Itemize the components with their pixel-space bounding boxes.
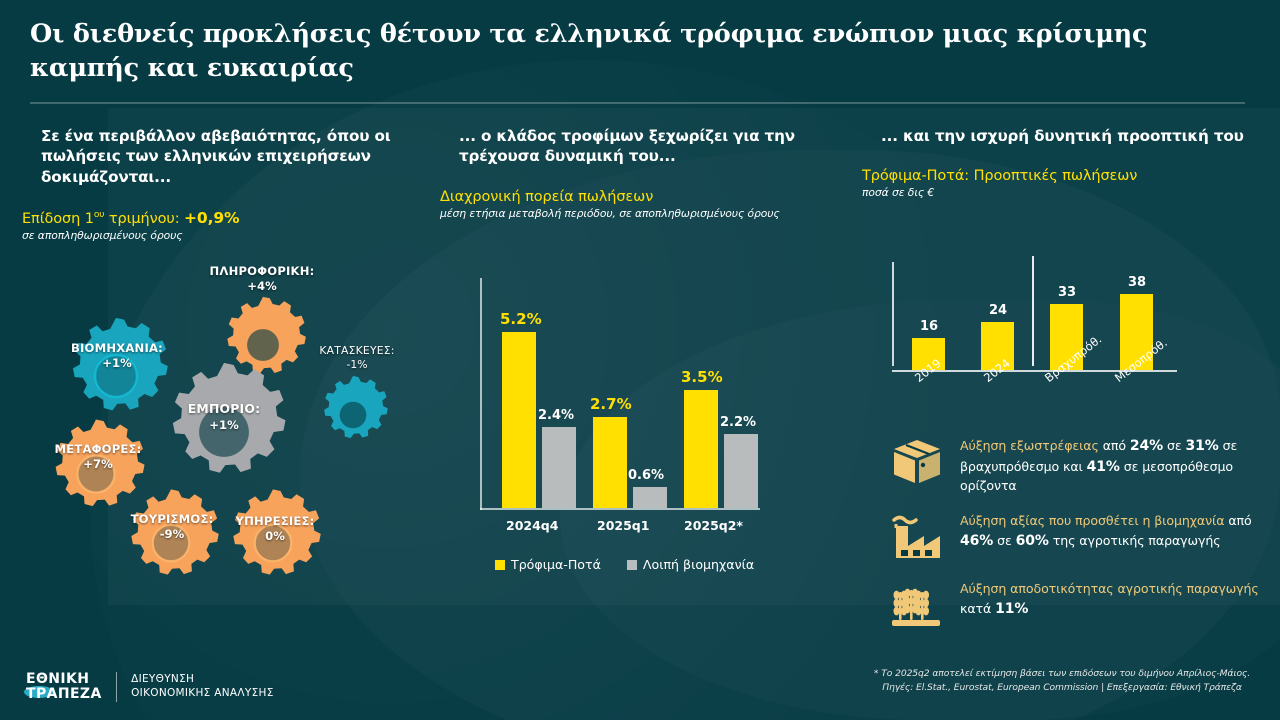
bar-other-2025q2 — [724, 434, 758, 508]
bar-food-2025q2 — [684, 390, 718, 508]
bullet-part: 31% — [1186, 438, 1219, 454]
logo-line-2: ΤΡΑΠΕΖΑ — [26, 687, 102, 702]
midchart-y-axis — [480, 278, 482, 510]
bullet-part: από — [1103, 438, 1130, 453]
column-sales-trend: ... ο κλάδος τροφίμων ξεχωρίζει για την … — [440, 126, 845, 220]
footnote-line-2: Πηγές: El.Stat., Eurostat, European Comm… — [862, 681, 1262, 695]
quarter-note: σε αποπληθωρισμένους όρους — [22, 229, 422, 242]
department-line-1: ΔΙΕΥΘΥΝΣΗ — [131, 673, 274, 687]
department-line-2: ΟΙΚΟΝΟΜΙΚΗΣ ΑΝΑΛΥΣΗΣ — [131, 687, 274, 701]
kicker-3-text: ... και την ισχυρή δυνητική προοπτική το… — [881, 126, 1244, 146]
bar-label-mid-term: 38 — [1128, 275, 1146, 290]
midchart-x-axis — [480, 508, 760, 510]
bullet-part: από — [1228, 513, 1251, 528]
bar-label-other-2024q4: 2.4% — [538, 408, 574, 423]
bullet-part: σε — [993, 533, 1015, 548]
category-label-2025q1: 2025q1 — [597, 518, 649, 533]
bullet-value-added-text: Αύξηση αξίας που προσθέτει η βιομηχανία … — [960, 512, 1280, 551]
kicker-1-text: Σε ένα περιβάλλον αβεβαιότητας, όπου οι … — [41, 126, 422, 187]
logo-divider — [116, 672, 117, 702]
bar-label-short-term: 33 — [1058, 285, 1076, 300]
kicker-2: ... ο κλάδος τροφίμων ξεχωρίζει για την … — [440, 126, 845, 167]
bullet-part: Αύξηση αξίας που προσθέτει η βιομηχανία — [960, 513, 1228, 528]
kicker-2-text: ... ο κλάδος τροφίμων ξεχωρίζει για την … — [459, 126, 845, 167]
gear-icon-tourismos — [112, 484, 230, 602]
bar-label-food-2024q4: 5.2% — [500, 310, 542, 328]
logo-line-1: ΕΘΝΙΚΗ — [26, 672, 102, 687]
subhead-2: Διαχρονική πορεία πωλήσεων μέση ετήσια μ… — [440, 189, 845, 220]
header-divider — [30, 102, 1245, 104]
bullet-part: 46% — [960, 533, 993, 549]
category-label-2025q2: 2025q2* — [684, 518, 743, 533]
page-title: Οι διεθνείς προκλήσεις θέτουν τα ελληνικ… — [30, 18, 1210, 85]
quarter-prefix: Επίδοση 1 — [22, 211, 94, 227]
quarter-superscript: ου — [94, 210, 105, 220]
gear-icon-ypiresies — [214, 484, 332, 602]
bar-label-2019: 16 — [920, 319, 938, 334]
factory-icon — [888, 512, 946, 564]
sector-gears-diagram: ΠΛΗΡΟΦΟΡΙΚΗ: +4% ΒΙΟΜΗΧΑΝΙΑ: +1% ΚΑΤΑΣΚΕ… — [22, 262, 432, 602]
legend-item-food: Τρόφιμα-Ποτά — [495, 557, 601, 572]
legend-label-other: Λοιπή βιομηχανία — [643, 557, 754, 572]
bullet-part: κατά — [960, 601, 995, 616]
bullet-part: της αγροτικής παραγωγής — [1049, 533, 1221, 548]
box-icon — [888, 436, 946, 488]
rightchart-title: Τρόφιμα-Ποτά: Προοπτικές πωλήσεων — [862, 168, 1262, 184]
legend-item-other: Λοιπή βιομηχανία — [627, 557, 754, 572]
bar-label-other-2025q2: 2.2% — [720, 415, 756, 430]
subhead-1: Επίδοση 1ου τριμήνου: +0,9% σε αποπληθωρ… — [22, 209, 422, 242]
bullet-part: 24% — [1130, 438, 1163, 454]
bullet-export-text: Αύξηση εξωστρέφειας από 24% σε 31% σε βρ… — [960, 436, 1280, 496]
midchart-legend: Τρόφιμα-Ποτά Λοιπή βιομηχανία — [495, 557, 754, 572]
legend-swatch-icon-food — [495, 560, 505, 570]
rightchart-note: ποσά σε δις € — [862, 186, 1262, 199]
bullet-part: Αύξηση εξωστρέφειας — [960, 438, 1103, 453]
bullet-export: Αύξηση εξωστρέφειας από 24% σε 31% σε βρ… — [888, 436, 1280, 496]
gear-ypiresies — [214, 484, 332, 606]
bullet-part: Αύξηση αποδοτικότητας αγροτικής παραγωγή… — [960, 581, 1259, 596]
legend-label-food: Τρόφιμα-Ποτά — [511, 557, 601, 572]
gear-tourismos — [112, 484, 230, 606]
sales-outlook-chart: 16 2019 24 2024 33 Βραχυπρόθ. 38 Μεσοπρό… — [892, 262, 1182, 372]
bar-other-2025q1 — [633, 487, 667, 508]
footnote-line-1: * Το 2025q2 αποτελεί εκτίμηση βάσει των … — [862, 667, 1262, 681]
page-header: Οι διεθνείς προκλήσεις θέτουν τα ελληνικ… — [30, 18, 1210, 85]
bar-label-food-2025q2: 3.5% — [681, 368, 723, 386]
bullet-part: 60% — [1016, 533, 1049, 549]
gear-icon-kataskeves — [310, 372, 396, 458]
logo-mark: ΕΘΝΙΚΗ ΤΡΑΠΕΖΑ — [26, 672, 102, 702]
subhead-3: Τρόφιμα-Ποτά: Προοπτικές πωλήσεων ποσά σ… — [862, 168, 1262, 199]
bullet-part: 11% — [995, 601, 1028, 617]
bullet-part: 41% — [1087, 459, 1120, 475]
kicker-1: Σε ένα περιβάλλον αβεβαιότητας, όπου οι … — [22, 126, 422, 187]
brand-logo: ΕΘΝΙΚΗ ΤΡΑΠΕΖΑ ΔΙΕΥΘΥΝΣΗ ΟΙΚΟΝΟΜΙΚΗΣ ΑΝΑ… — [26, 672, 274, 702]
bar-food-2025q1 — [593, 417, 627, 508]
quarter-performance-title: Επίδοση 1ου τριμήνου: +0,9% — [22, 209, 422, 227]
quarter-value: +0,9% — [184, 209, 239, 227]
wheat-icon — [888, 580, 946, 632]
bullet-value-added: Αύξηση αξίας που προσθέτει η βιομηχανία … — [888, 512, 1280, 564]
sales-trend-chart: 5.2% 2.4% 2024q4 2.7% 0.6% 2025q1 3.5% 2… — [480, 278, 770, 510]
bullet-productivity: Αύξηση αποδοτικότητας αγροτικής παραγωγή… — [888, 580, 1280, 632]
legend-swatch-icon-other — [627, 560, 637, 570]
bullet-productivity-text: Αύξηση αποδοτικότητας αγροτικής παραγωγή… — [960, 580, 1280, 619]
bar-label-other-2025q1: 0.6% — [628, 468, 664, 483]
bullet-part: σε — [1163, 438, 1185, 453]
midchart-note: μέση ετήσια μεταβολή περιόδου, σε αποπλη… — [440, 207, 845, 220]
rightchart-y-axis — [892, 262, 894, 366]
column-uncertainty: Σε ένα περιβάλλον αβεβαιότητας, όπου οι … — [22, 126, 422, 242]
bar-food-2024q4 — [502, 332, 536, 508]
column-outlook: ... και την ισχυρή δυνητική προοπτική το… — [862, 126, 1262, 199]
footnote: * Το 2025q2 αποτελεί εκτίμηση βάσει των … — [862, 667, 1262, 696]
bar-label-food-2025q1: 2.7% — [590, 395, 632, 413]
rightchart-divider — [1032, 256, 1034, 366]
quarter-mid: τριμήνου: — [104, 211, 184, 227]
bar-other-2024q4 — [542, 427, 576, 508]
gear-kataskeves — [310, 372, 396, 462]
category-label-2024q4: 2024q4 — [506, 518, 558, 533]
midchart-title: Διαχρονική πορεία πωλήσεων — [440, 189, 845, 205]
kicker-3: ... και την ισχυρή δυνητική προοπτική το… — [862, 126, 1262, 146]
bar-label-2024: 24 — [989, 303, 1007, 318]
logo-department: ΔΙΕΥΘΥΝΣΗ ΟΙΚΟΝΟΜΙΚΗΣ ΑΝΑΛΥΣΗΣ — [131, 673, 274, 701]
outlook-bullets: Αύξηση εξωστρέφειας από 24% σε 31% σε βρ… — [888, 436, 1280, 648]
